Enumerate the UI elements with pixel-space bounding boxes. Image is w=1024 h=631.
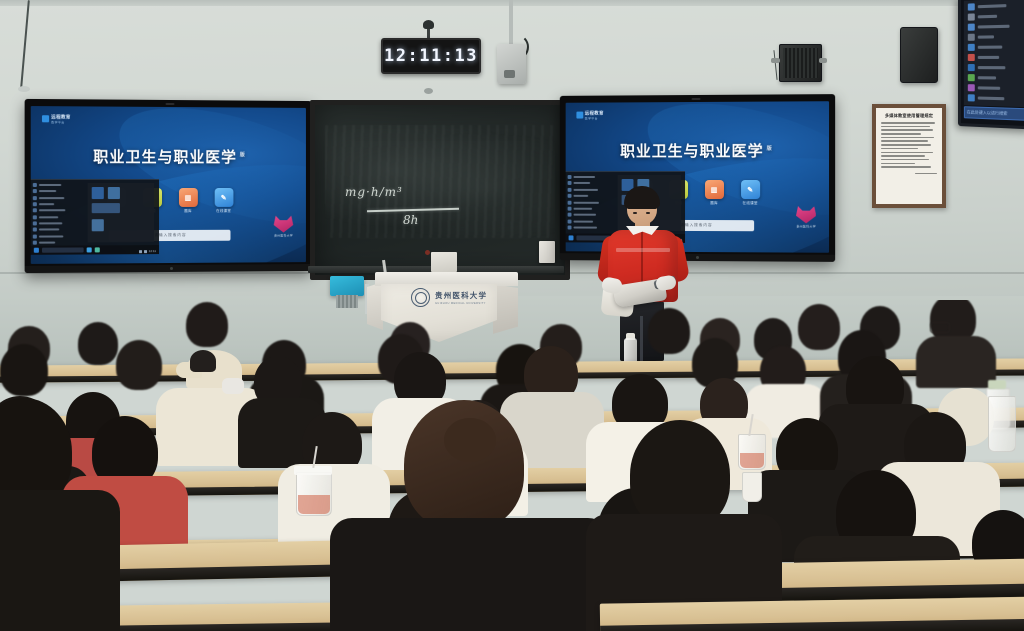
- student-head: [116, 340, 162, 390]
- notice-text-line: [881, 122, 935, 124]
- bottle-cap: [988, 380, 1006, 389]
- course-title-text: 职业卫生与职业医学: [620, 142, 764, 159]
- menu-icon: [568, 175, 572, 179]
- hair-bun-icon: [444, 418, 496, 462]
- panel-camera-icon: [166, 103, 175, 105]
- notice-text-line: [881, 140, 928, 142]
- cap-panel-icon: [190, 350, 216, 372]
- lecture-hall-screenshot: 12:11:13 在此处键入以进行搜索 多媒体教室使用管理规定: [0, 0, 1024, 631]
- menu-icon: [33, 228, 37, 232]
- start-button-icon[interactable]: [569, 235, 574, 240]
- start-menu-item[interactable]: [33, 228, 85, 232]
- platform-logo: 远程教育 教学平台: [576, 110, 604, 120]
- screen-search-placeholder: 请 输 入 搜 索 内 容: [154, 233, 185, 238]
- student-body: [0, 490, 120, 631]
- menu-label-bar: [39, 184, 61, 186]
- app-label: 在线课堂: [216, 209, 231, 214]
- question-bank-icon: ▥: [704, 180, 723, 199]
- eye-right-icon: [646, 212, 650, 214]
- menu-icon: [33, 209, 37, 213]
- system-tray[interactable]: 12:11: [139, 249, 156, 253]
- drink-cup: [296, 472, 332, 516]
- menu-label-bar: [573, 220, 593, 222]
- start-button-icon[interactable]: [34, 248, 39, 253]
- menu-label-bar: [573, 189, 598, 191]
- notice-text-line: [881, 129, 933, 131]
- platform-logo-mark-icon: [576, 112, 583, 119]
- notice-text-line: [881, 155, 925, 157]
- menu-label-bar: [39, 222, 62, 224]
- menu-label-bar: [39, 229, 59, 231]
- menu-label-bar: [39, 203, 54, 205]
- notice-text-line: [881, 133, 921, 135]
- app-label: 在线课堂: [742, 201, 757, 206]
- tile[interactable]: [92, 219, 104, 231]
- online-class-icon: ✎: [214, 188, 233, 207]
- notice-signature-line: [915, 173, 937, 175]
- app-shortcut-online-class[interactable]: ✎ 在线课堂: [741, 180, 760, 206]
- panel-camera-icon: [692, 98, 701, 100]
- mascot-label: 贵州医科大学: [272, 234, 295, 238]
- notice-text-line: [881, 137, 934, 139]
- menu-icon: [33, 202, 37, 206]
- menu-icon: [33, 234, 37, 238]
- notice-text-line: [881, 126, 930, 128]
- chalk-smudges: [325, 125, 555, 237]
- start-menu-panel[interactable]: [964, 0, 1024, 107]
- notice-title: 多媒体教室使用管理规定: [881, 113, 937, 119]
- drink-cup: [738, 434, 766, 470]
- menu-label-bar: [39, 197, 64, 199]
- app-icon: [968, 64, 975, 71]
- mascot-wolf-icon: [796, 206, 816, 223]
- app-label: 题库: [710, 201, 718, 206]
- left-screen-desktop[interactable]: 远程教育 教学平台 职业卫生与职业医学版 ▤ 课件 ◗ 视频 ▥ 题库: [31, 106, 306, 264]
- board-eraser[interactable]: [539, 241, 555, 263]
- menu-icon: [568, 207, 572, 211]
- label-bar: [978, 56, 999, 59]
- taskbar-clock: 12:11: [149, 249, 156, 253]
- board-magnet: [425, 250, 430, 255]
- menu-label-bar: [39, 216, 58, 218]
- platform-logo: 远程教育 教学平台: [42, 114, 71, 124]
- notice-text-line: [881, 166, 931, 168]
- student-head: [78, 322, 118, 365]
- digital-clock: 12:11:13: [381, 38, 481, 74]
- monitor-search-placeholder: 在此处键入以进行搜索: [967, 107, 1024, 119]
- shirt-logo-strip: [616, 248, 670, 252]
- menu-label-bar: [39, 235, 63, 237]
- app-shortcut-question-bank[interactable]: ▥ 题库: [704, 180, 723, 206]
- label-bar: [978, 66, 1006, 69]
- notice-text-line: [881, 148, 918, 150]
- drink-liquid: [298, 495, 330, 514]
- clock-mount: [423, 20, 434, 29]
- label-bar: [978, 15, 997, 19]
- menu-icon: [33, 241, 37, 245]
- start-menu-list[interactable]: [33, 183, 85, 248]
- app-icon: [968, 24, 975, 31]
- app-icon: [968, 44, 975, 51]
- speaker-grille: [783, 48, 818, 78]
- platform-logo-mark-icon: [42, 116, 49, 123]
- wall-notice-frame: 多媒体教室使用管理规定: [872, 104, 946, 208]
- app-icon: [968, 74, 975, 81]
- menu-icon: [33, 189, 37, 193]
- menu-icon: [33, 222, 37, 226]
- start-menu-item[interactable]: [33, 234, 85, 238]
- menu-item[interactable]: [968, 74, 1024, 82]
- student-body: [330, 518, 610, 631]
- menu-icon: [568, 226, 572, 230]
- platform-logo-sub: 教学平台: [51, 120, 71, 124]
- platform-logo-text: 远程教育: [585, 110, 604, 116]
- app-icon: [968, 34, 975, 41]
- left-display-panel[interactable]: 远程教育 教学平台 职业卫生与职业医学版 ▤ 课件 ◗ 视频 ▥ 题库: [25, 99, 312, 273]
- notice-text-line: [881, 152, 933, 154]
- start-menu-tiles[interactable]: [88, 183, 154, 243]
- menu-icon: [568, 213, 572, 217]
- wall-control-box[interactable]: [330, 276, 364, 296]
- course-title-text: 职业卫生与职业医学: [93, 149, 237, 166]
- app-shortcut-online-class[interactable]: ✎ 在线课堂: [214, 188, 233, 214]
- app-label: 题库: [184, 209, 192, 214]
- menu-icon: [568, 200, 572, 204]
- menu-item[interactable]: [968, 64, 1024, 71]
- app-icon: [968, 13, 975, 20]
- notice-text-line: [881, 144, 931, 146]
- menu-icon: [33, 196, 37, 200]
- control-monitor[interactable]: 在此处键入以进行搜索: [958, 0, 1024, 129]
- lectern-top: [375, 272, 518, 286]
- course-title: 职业卫生与职业医学版: [566, 139, 829, 161]
- menu-icon: [33, 215, 37, 219]
- menu-label-bar: [39, 190, 56, 192]
- menu-label-bar: [573, 214, 596, 216]
- chalk-numerator: mg·h/m³: [345, 185, 403, 199]
- screen-start-menu[interactable]: 12:11: [31, 179, 159, 255]
- student-head: [798, 304, 840, 350]
- speaker-bracket-left: [771, 58, 780, 63]
- chalk-denominator: 8h: [403, 213, 418, 227]
- wall-speaker-left: [779, 44, 822, 82]
- platform-logo-sub: 教学平台: [585, 116, 604, 120]
- menu-item[interactable]: [968, 43, 1024, 51]
- menu-label-bar: [573, 176, 595, 178]
- label-bar: [978, 76, 996, 79]
- menu-label-bar: [39, 242, 55, 244]
- student-body: [916, 336, 996, 388]
- menu-item[interactable]: [968, 22, 1024, 31]
- menu-icon: [568, 194, 572, 198]
- screen-taskbar[interactable]: 12:11: [31, 245, 159, 255]
- menu-label-bar: [39, 210, 65, 212]
- cable-anchor-left: [18, 86, 30, 92]
- tile[interactable]: [108, 187, 120, 199]
- lectern-monitor[interactable]: [431, 252, 457, 272]
- menu-icon: [568, 188, 572, 192]
- label-bar: [978, 46, 1002, 49]
- course-title: 职业卫生与职业医学版: [31, 146, 306, 168]
- platform-logo-text: 远程教育: [51, 114, 71, 120]
- presenter-hair: [624, 186, 660, 209]
- menu-icon: [568, 181, 572, 185]
- mascot-wolf-icon: [274, 216, 294, 233]
- clock-time: 12:11:13: [384, 46, 478, 66]
- tray-icon[interactable]: [144, 250, 147, 253]
- menu-icon: [33, 183, 37, 187]
- camera-lens-icon: [504, 70, 515, 78]
- menu-item[interactable]: [968, 84, 1024, 92]
- university-mascot: 贵州医科大学: [794, 206, 818, 228]
- notice-text-line: [881, 159, 929, 161]
- menu-icon: [568, 219, 572, 223]
- menu-item[interactable]: [968, 94, 1024, 103]
- water-bottle: [988, 396, 1016, 452]
- drink-liquid: [740, 453, 764, 468]
- eyeglasses-icon: [930, 322, 950, 333]
- app-icon: [968, 3, 975, 10]
- ceiling-camera: [497, 44, 526, 84]
- ceiling-fixture: [424, 88, 433, 94]
- menu-label-bar: [573, 227, 597, 229]
- online-class-icon: ✎: [741, 180, 760, 199]
- tile[interactable]: [92, 187, 104, 199]
- question-bank-icon: ▥: [178, 188, 197, 207]
- milk-carton: [742, 472, 762, 502]
- start-menu-item[interactable]: [33, 196, 85, 200]
- menu-item[interactable]: [968, 33, 1024, 41]
- monitor-search-box[interactable]: 在此处键入以进行搜索: [964, 106, 1024, 121]
- eye-left-icon: [633, 212, 637, 214]
- start-menu-item[interactable]: [568, 175, 616, 179]
- label-bar: [978, 35, 994, 38]
- wall-speaker-right: [900, 27, 938, 83]
- student-head: [0, 344, 48, 396]
- menu-label-bar: [573, 208, 592, 210]
- app-icon: [968, 54, 975, 61]
- label-bar: [978, 86, 1000, 89]
- panel-power-led-icon: [696, 256, 699, 259]
- course-title-sup: 版: [767, 145, 773, 151]
- start-menu-item[interactable]: [33, 189, 85, 193]
- menu-label-bar: [573, 182, 590, 184]
- university-mascot: 贵州医科大学: [272, 216, 295, 238]
- student-audience: [0, 300, 1024, 631]
- course-title-sup: 版: [240, 152, 246, 158]
- menu-label-bar: [573, 195, 588, 197]
- taskbar-app-icon[interactable]: [95, 247, 100, 252]
- start-menu-item[interactable]: [33, 202, 85, 206]
- start-menu-item[interactable]: [33, 241, 85, 245]
- tray-icon[interactable]: [139, 250, 142, 253]
- taskbar-app-icon[interactable]: [87, 247, 92, 252]
- label-bar: [978, 96, 1005, 100]
- start-menu-item[interactable]: [33, 215, 85, 219]
- panel-power-led-icon: [170, 267, 173, 270]
- speaker-bracket-left-2: [819, 58, 827, 63]
- taskbar-search-box[interactable]: [42, 247, 84, 252]
- app-icon: [968, 94, 975, 101]
- label-bar: [978, 25, 1010, 29]
- menu-item[interactable]: [968, 54, 1024, 61]
- start-menu-item[interactable]: [33, 221, 85, 225]
- app-icon: [968, 84, 975, 91]
- app-shortcut-question-bank[interactable]: ▥ 题库: [178, 188, 197, 214]
- student-head: [648, 308, 690, 354]
- mascot-label: 贵州医科大学: [794, 224, 818, 228]
- menu-item[interactable]: [968, 1, 1024, 10]
- label-bar: [978, 4, 1007, 8]
- start-menu-item[interactable]: [33, 183, 85, 187]
- start-menu-item[interactable]: [33, 208, 85, 212]
- start-menu-item[interactable]: [568, 181, 616, 185]
- menu-item[interactable]: [968, 12, 1024, 21]
- notice-text-line: [881, 163, 915, 165]
- student-head: [186, 302, 228, 347]
- tile[interactable]: [92, 203, 120, 213]
- face-mask-icon: [222, 378, 244, 394]
